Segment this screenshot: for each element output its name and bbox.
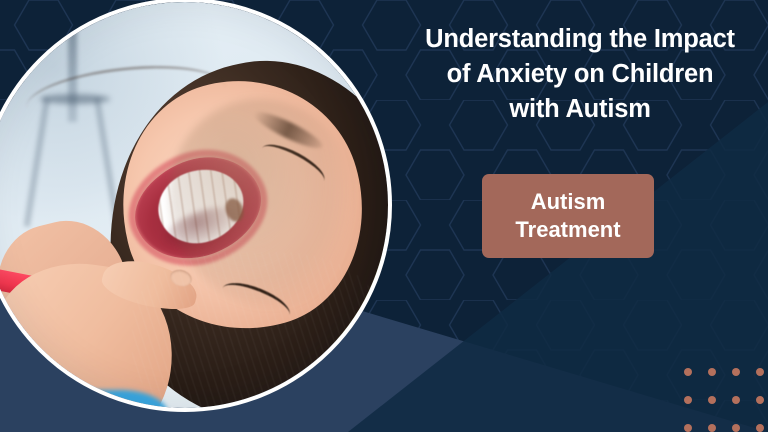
decorative-dot	[732, 424, 740, 432]
decorative-dot	[732, 396, 740, 404]
decorative-dot	[708, 424, 716, 432]
hero-photo-image	[0, 2, 388, 408]
dot-grid-decoration	[680, 364, 768, 432]
decorative-dot	[756, 396, 764, 404]
decorative-dot	[732, 368, 740, 376]
decorative-dot	[684, 424, 692, 432]
hero-photo	[0, 0, 392, 412]
decorative-dot	[756, 424, 764, 432]
photo-vignette	[0, 2, 388, 408]
decorative-dot	[684, 396, 692, 404]
autism-treatment-button[interactable]: Autism Treatment	[482, 174, 654, 258]
decorative-dot	[756, 368, 764, 376]
decorative-dot	[708, 368, 716, 376]
decorative-dot	[708, 396, 716, 404]
decorative-dot	[684, 368, 692, 376]
page-title: Understanding the Impact of Anxiety on C…	[420, 22, 740, 127]
banner-canvas: Understanding the Impact of Anxiety on C…	[0, 0, 768, 432]
